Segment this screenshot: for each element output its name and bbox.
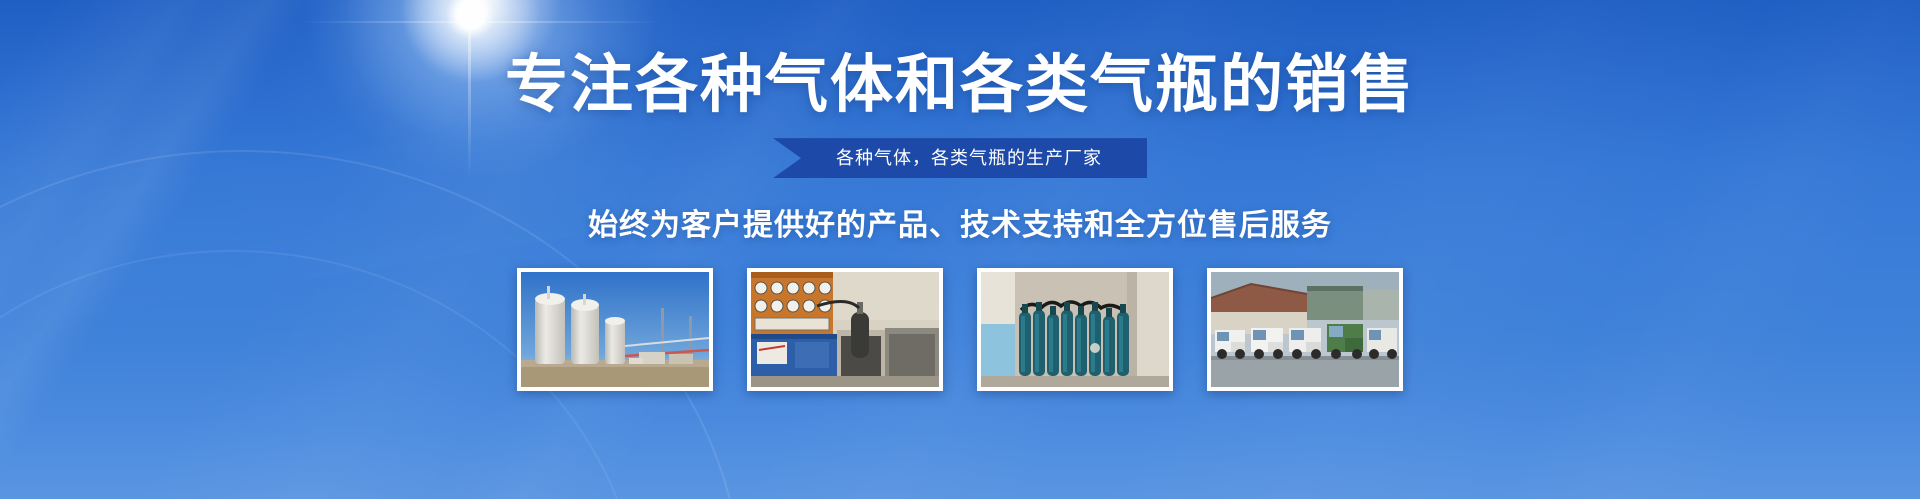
banner-headline: 专注各种气体和各类气瓶的销售 [0, 0, 1920, 118]
hero-banner: 专注各种气体和各类气瓶的销售 各种气体，各类气瓶的生产厂家 始终为客户提供好的产… [0, 0, 1920, 499]
photo-cryogenic-storage-tanks[interactable]: 白色低温储罐 [517, 268, 713, 391]
photo-teal-gas-cylinder-rack[interactable]: 气瓶集装排 [977, 268, 1173, 391]
ribbon-container: 各种气体，各类气瓶的生产厂家 [0, 138, 1920, 178]
photo-gas-filling-gauge-panel[interactable]: 气体充装压力表控制台 [747, 268, 943, 391]
banner-content: 专注各种气体和各类气瓶的销售 各种气体，各类气瓶的生产厂家 始终为客户提供好的产… [0, 0, 1920, 391]
banner-subline: 始终为客户提供好的产品、技术支持和全方位售后服务 [0, 178, 1920, 244]
photo-delivery-truck-fleet[interactable]: 配送车队 [1207, 268, 1403, 391]
photo-gallery: 白色低温储罐 [0, 268, 1920, 391]
banner-ribbon-tagline: 各种气体，各类气瓶的生产厂家 [773, 138, 1147, 178]
